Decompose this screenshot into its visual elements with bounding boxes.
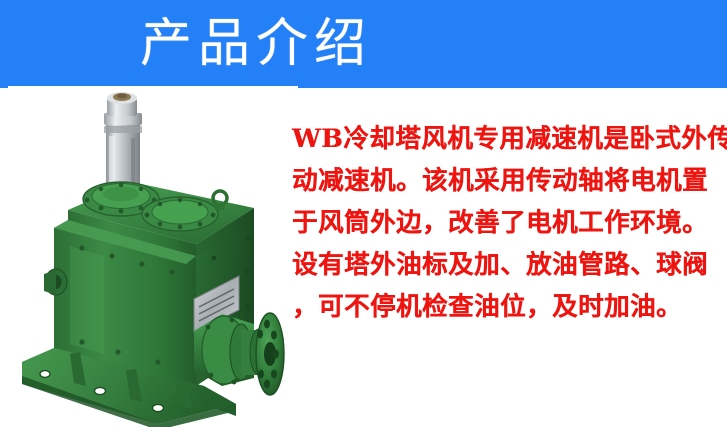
description-line: 设有塔外油标及加、放油管路、球阀 [292,244,706,286]
output-shaft-group [194,313,284,395]
product-description: WB冷却塔风机专用减速机是卧式外传 动减速机。该机采用传动轴将电机置 于风筒外边… [292,118,706,328]
header-banner: 产品介绍 [0,0,727,88]
description-line: ，可不停机检查油位，及时加油。 [292,286,706,328]
page-title: 产品介绍 [0,0,727,88]
input-shaft-group [104,92,142,195]
description-line: 于风筒外边，改善了电机工作环境。 [292,202,706,244]
description-line: 动减速机。该机采用传动轴将电机置 [292,160,706,202]
gear-reducer-illustration [8,86,298,427]
description-line: WB冷却塔风机专用减速机是卧式外传 [292,118,706,160]
product-introduction-page: 产品介绍 [0,0,727,427]
product-photo [8,86,298,427]
